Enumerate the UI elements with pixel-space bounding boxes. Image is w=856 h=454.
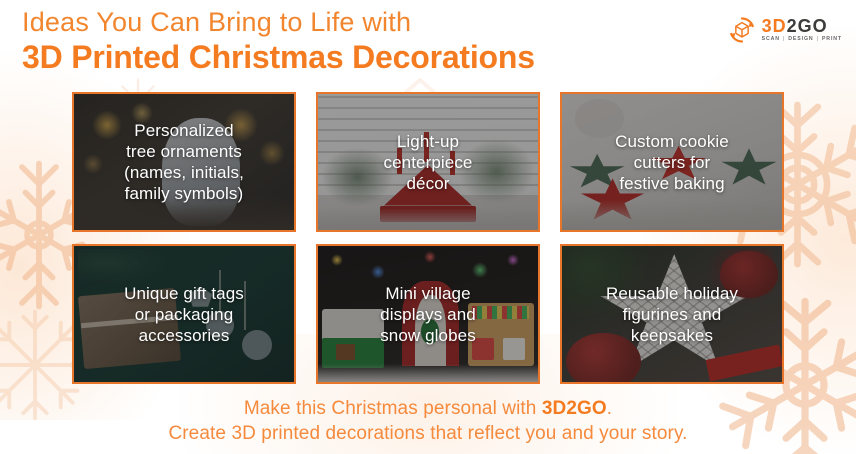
- footer-line-1: Make this Christmas personal with 3D2GO.: [0, 396, 856, 421]
- brand-logo[interactable]: 3D2GO SCAN|DESIGN|PRINT: [728, 16, 842, 44]
- footer-line-1-after: .: [607, 398, 612, 419]
- infographic-page: Ideas You Can Bring to Life with 3D Prin…: [0, 0, 856, 454]
- idea-card-ornaments[interactable]: Personalized tree ornaments (names, init…: [72, 92, 296, 232]
- header: Ideas You Can Bring to Life with 3D Prin…: [0, 0, 856, 86]
- idea-card-mini-village[interactable]: Mini village displays and snow globes: [316, 244, 540, 384]
- page-title: Ideas You Can Bring to Life with 3D Prin…: [22, 6, 535, 76]
- idea-card-label: Light-up centerpiece décor: [318, 94, 538, 230]
- idea-card-label: Unique gift tags or packaging accessorie…: [74, 246, 294, 382]
- logo-tagline: SCAN|DESIGN|PRINT: [762, 37, 842, 42]
- logo-tag-print: PRINT: [822, 36, 842, 42]
- idea-card-label: Reusable holiday figurines and keepsakes: [562, 246, 782, 382]
- footer-callout: Make this Christmas personal with 3D2GO.…: [0, 396, 856, 446]
- idea-card-label: Custom cookie cutters for festive baking: [562, 94, 782, 230]
- title-line-1: Ideas You Can Bring to Life with: [22, 6, 535, 38]
- idea-card-cookie-cutters[interactable]: Custom cookie cutters for festive baking: [560, 92, 784, 232]
- footer-brand-3d2go: 3D2GO: [542, 398, 607, 419]
- logo-tag-design: DESIGN: [788, 36, 813, 42]
- footer-line-2: Create 3D printed decorations that refle…: [0, 421, 856, 446]
- idea-card-label: Mini village displays and snow globes: [318, 246, 538, 382]
- logo-tag-sep-2: |: [817, 36, 819, 42]
- footer-line-1-before: Make this Christmas personal with: [244, 398, 542, 419]
- idea-card-gift-tags[interactable]: Unique gift tags or packaging accessorie…: [72, 244, 296, 384]
- title-line-2: 3D Printed Christmas Decorations: [22, 38, 535, 76]
- 3d2go-cube-recycle-icon: [728, 16, 756, 44]
- idea-card-figurines[interactable]: Reusable holiday figurines and keepsakes: [560, 244, 784, 384]
- logo-tag-scan: SCAN: [762, 36, 780, 42]
- idea-card-centerpiece[interactable]: Light-up centerpiece décor: [316, 92, 540, 232]
- logo-word-3d: 3D: [762, 16, 787, 36]
- logo-word-2go: 2GO: [787, 16, 828, 36]
- logo-tag-sep-1: |: [783, 36, 785, 42]
- idea-card-grid: Personalized tree ornaments (names, init…: [72, 92, 784, 384]
- idea-card-label: Personalized tree ornaments (names, init…: [74, 94, 294, 230]
- logo-text: 3D2GO SCAN|DESIGN|PRINT: [762, 17, 842, 42]
- logo-wordmark: 3D2GO: [762, 17, 842, 35]
